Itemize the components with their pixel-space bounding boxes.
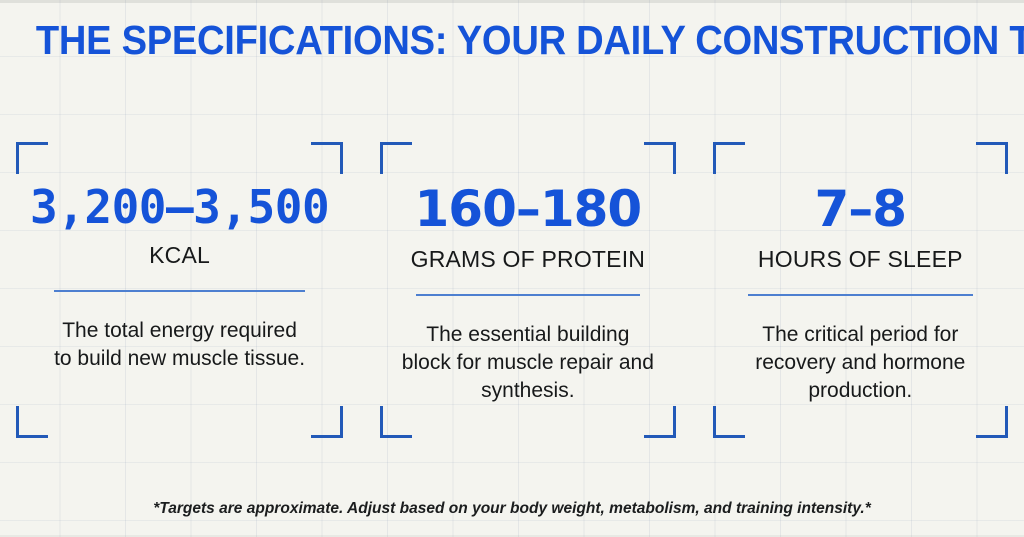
stat-number: 160–180 <box>414 184 641 234</box>
stat-description: The critical period for recovery and hor… <box>733 321 988 405</box>
spec-card-kcal: 3,200–3,500 KCAL The total energy requir… <box>16 142 343 438</box>
stat-number: 7–8 <box>815 184 907 234</box>
stat-description: The essential building block for muscle … <box>400 321 655 405</box>
top-edge-band <box>0 0 1024 3</box>
corner-bracket-bottom-right-icon <box>976 406 1008 438</box>
corner-bracket-bottom-right-icon <box>644 406 676 438</box>
spec-card-sleep: 7–8 HOURS OF SLEEP The critical period f… <box>713 142 1008 438</box>
corner-bracket-top-right-icon <box>311 142 343 174</box>
stat-label: HOURS OF SLEEP <box>758 247 963 272</box>
corner-bracket-bottom-right-icon <box>311 406 343 438</box>
card-divider <box>54 290 305 292</box>
corner-bracket-top-right-icon <box>976 142 1008 174</box>
spec-card-protein: 160–180 GRAMS OF PROTEIN The essential b… <box>380 142 675 438</box>
stat-number: 3,200–3,500 <box>30 184 329 230</box>
stat-description: The total energy required to build new m… <box>52 317 307 373</box>
stat-label: GRAMS OF PROTEIN <box>411 247 646 272</box>
corner-bracket-bottom-left-icon <box>16 406 48 438</box>
corner-bracket-top-right-icon <box>644 142 676 174</box>
corner-bracket-top-left-icon <box>713 142 745 174</box>
card-divider <box>416 294 641 296</box>
card-divider <box>748 294 973 296</box>
corner-bracket-bottom-left-icon <box>380 406 412 438</box>
page-title: THE SPECIFICATIONS: YOUR DAILY CONSTRUCT… <box>36 20 988 61</box>
spec-card-row: 3,200–3,500 KCAL The total energy requir… <box>16 142 1008 438</box>
corner-bracket-bottom-left-icon <box>713 406 745 438</box>
stat-label: KCAL <box>149 243 210 268</box>
footnote-disclaimer: *Targets are approximate. Adjust based o… <box>15 500 1008 518</box>
corner-bracket-top-left-icon <box>380 142 412 174</box>
corner-bracket-top-left-icon <box>16 142 48 174</box>
infographic-page: THE SPECIFICATIONS: YOUR DAILY CONSTRUCT… <box>0 0 1024 537</box>
